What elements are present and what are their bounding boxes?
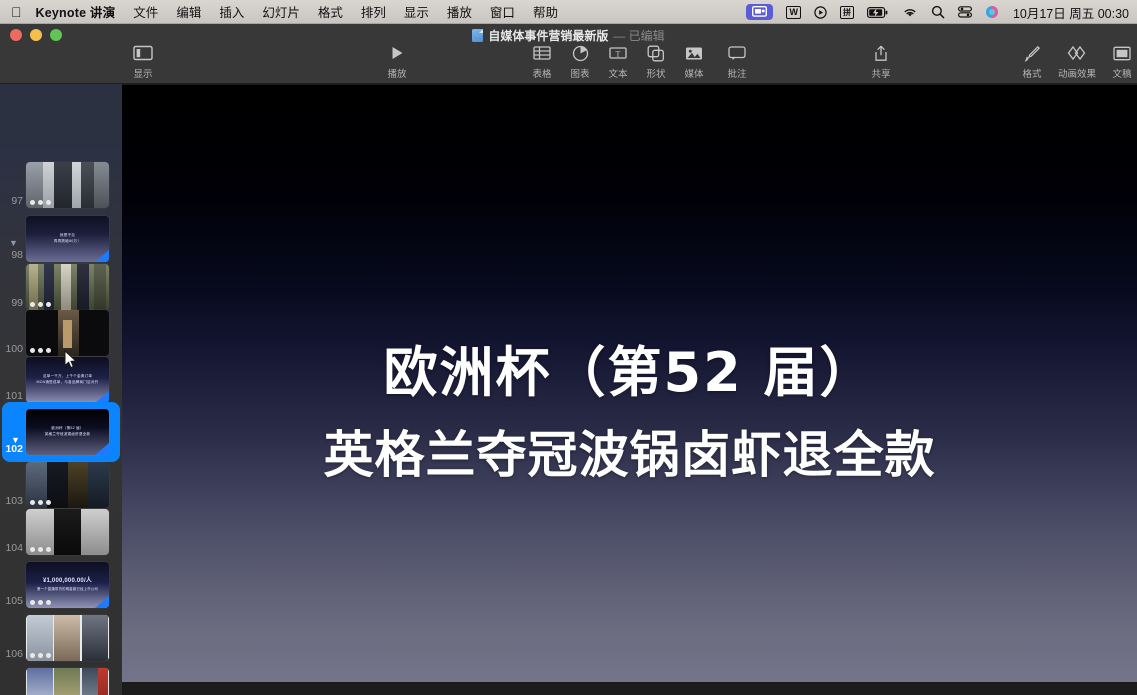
control-center-icon[interactable] [958, 6, 972, 18]
document-panel-icon [1113, 42, 1131, 64]
slide-thumb-image[interactable] [26, 462, 109, 508]
keynote-document-icon [472, 29, 483, 42]
table-icon [533, 42, 551, 64]
text-box-icon: T [609, 42, 627, 64]
spotlight-search-icon[interactable] [931, 5, 945, 19]
comment-button[interactable]: 批注 [710, 42, 764, 80]
animate-button-label: 动画效果 [1058, 66, 1096, 80]
chevron-down-icon[interactable]: ▼ [11, 435, 20, 445]
view-button[interactable]: 显示 [116, 42, 170, 80]
slide-number: 100 [0, 343, 26, 356]
current-slide[interactable]: 欧洲杯（第52 届） 英格兰夺冠波锅卤虾退全款 [122, 85, 1137, 682]
slide-navigator[interactable]: 97 ▼ 98 [0, 84, 122, 695]
slide-number: 106 [0, 648, 26, 661]
window-body: 97 ▼ 98 [0, 84, 1137, 695]
slide-thumbnail-97[interactable]: 97 [0, 162, 122, 208]
menu-item-file[interactable]: 文件 [133, 2, 158, 21]
slide-canvas-area[interactable]: 欧洲杯（第52 届） 英格兰夺冠波锅卤虾退全款 [122, 84, 1137, 695]
slide-thumb-image[interactable] [26, 264, 109, 310]
menu-item-arrange[interactable]: 排列 [361, 2, 386, 21]
slide-thumb-image[interactable] [26, 509, 109, 555]
menu-item-play[interactable]: 播放 [447, 2, 472, 21]
slide-thumbnail-105[interactable]: 105 ¥1,000,000.00/人 第一个直播带货的明星都已经上市公司 [0, 562, 122, 608]
comment-bubble-icon [728, 42, 746, 64]
macos-menu-bar:  Keynote 讲演 文件 编辑 插入 幻灯片 格式 排列 显示 播放 窗口… [0, 0, 1137, 24]
pie-chart-icon [572, 42, 589, 64]
corner-accent [95, 443, 109, 455]
menu-item-view[interactable]: 显示 [404, 2, 429, 21]
slide-thumbnail-103[interactable]: 103 [0, 462, 122, 508]
slide-thumbnail-104[interactable]: 104 [0, 509, 122, 555]
slide-thumbnail-99[interactable]: 99 [0, 264, 122, 310]
view-panels-icon [133, 42, 153, 64]
build-indicator-dots [30, 200, 51, 205]
slide-number: 99 [0, 297, 26, 310]
slide-thumbnail-102-selected[interactable]: ▼ 102 欧洲杯（第52 届） 英格兰夺冠波锅卤虾退全款 [2, 402, 120, 462]
comment-button-label: 批注 [727, 66, 746, 80]
keynote-document-window: 自媒体事件营销最新版 — 已编辑 显示 播放 [0, 24, 1137, 695]
slide-thumb-image[interactable]: 就是不见 再再跌破60万！ [26, 216, 109, 262]
wifi-icon[interactable] [902, 6, 918, 18]
chevron-down-icon[interactable]: ▼ [9, 238, 18, 248]
table-button-label: 表格 [532, 66, 551, 80]
share-button[interactable]: 共享 [854, 42, 908, 80]
animate-diamonds-icon [1067, 42, 1087, 64]
document-button[interactable]: 文稿 [1095, 42, 1137, 80]
window-titlebar: 自媒体事件营销最新版 — 已编辑 显示 播放 [0, 24, 1137, 84]
slide-number: 104 [0, 542, 26, 555]
slide-thumbnail-98[interactable]: ▼ 98 就是不见 再再跌破60万！ [0, 216, 122, 262]
slide-thumb-image[interactable] [26, 162, 109, 208]
menu-item-insert[interactable]: 插入 [219, 2, 244, 21]
slide-thumb-image[interactable]: ¥1,000,000.00/人 第一个直播带货的明星都已经上市公司 [26, 562, 109, 608]
menu-item-edit[interactable]: 编辑 [176, 2, 201, 21]
menu-bar-clock[interactable]: 10月17日 周五 00:30 [1013, 3, 1129, 22]
chart-button-label: 图表 [570, 66, 589, 80]
slide-number: 97 [0, 195, 26, 208]
play-triangle-icon [389, 42, 405, 64]
menu-item-help[interactable]: 帮助 [533, 2, 558, 21]
mouse-cursor [64, 350, 78, 369]
build-indicator-dots [30, 547, 51, 552]
format-button-label: 格式 [1022, 66, 1041, 80]
slide-thumbnail-106[interactable]: 106 [0, 615, 122, 661]
media-play-icon[interactable] [814, 6, 827, 19]
build-indicator-dots [30, 653, 51, 658]
build-indicator-dots [30, 500, 51, 505]
media-button-label: 媒体 [684, 66, 703, 80]
slide-number: 103 [0, 495, 26, 508]
slide-thumb-image[interactable]: 欧洲杯（第52 届） 英格兰夺冠波锅卤虾退全款 [26, 409, 109, 455]
corner-accent [95, 596, 109, 608]
corner-accent [95, 250, 109, 262]
input-method-icon[interactable]: 拼 [840, 6, 854, 19]
menu-item-slide[interactable]: 幻灯片 [262, 2, 300, 21]
slide-thumbnail-100[interactable]: 100 [0, 310, 122, 356]
build-indicator-dots [30, 348, 51, 353]
slide-thumbnail-107[interactable]: 107 [0, 668, 122, 695]
view-button-label: 显示 [133, 66, 152, 80]
play-button-label: 播放 [387, 66, 406, 80]
wps-icon[interactable]: W [786, 6, 801, 19]
keynote-window:  Keynote 讲演 文件 编辑 插入 幻灯片 格式 排列 显示 播放 窗口… [0, 0, 1137, 695]
screen-share-icon[interactable] [746, 4, 773, 20]
build-indicator-dots [30, 600, 51, 605]
menu-item-window[interactable]: 窗口 [490, 2, 515, 21]
shape-button-label: 形状 [646, 66, 665, 80]
menu-item-format[interactable]: 格式 [318, 2, 343, 21]
shapes-icon [647, 42, 665, 64]
slide-title-line1[interactable]: 欧洲杯（第52 届） [122, 328, 1137, 407]
slide-number: 98 [0, 249, 26, 262]
photo-icon [685, 42, 703, 64]
toolbar: 显示 播放 表格 [0, 42, 1137, 84]
slide-title-line2[interactable]: 英格兰夺冠波锅卤虾退全款 [122, 415, 1137, 487]
slide-thumbnail-101[interactable]: 101 这单一千万，上千个金典订单 MCN销售成单，与各品牌商门店对开 [0, 357, 122, 403]
battery-charging-icon[interactable] [867, 7, 889, 18]
build-indicator-dots [30, 302, 51, 307]
play-button[interactable]: 播放 [370, 42, 424, 80]
slide-thumb-image[interactable] [26, 668, 109, 695]
text-button-label: 文本 [608, 66, 627, 80]
apple-logo-icon[interactable]:  [11, 5, 22, 19]
siri-icon[interactable] [985, 5, 999, 19]
paintbrush-icon [1024, 42, 1041, 64]
slide-number: 105 [0, 595, 26, 608]
menu-bar-status-area: W 拼 10月17日 周五 00:30 [742, 0, 1129, 24]
menu-app-name[interactable]: Keynote 讲演 [36, 2, 116, 21]
share-button-label: 共享 [871, 66, 890, 80]
document-button-label: 文稿 [1112, 66, 1131, 80]
slide-thumb-image[interactable] [26, 615, 109, 661]
svg-text:T: T [616, 50, 621, 59]
share-upload-icon [873, 42, 889, 64]
